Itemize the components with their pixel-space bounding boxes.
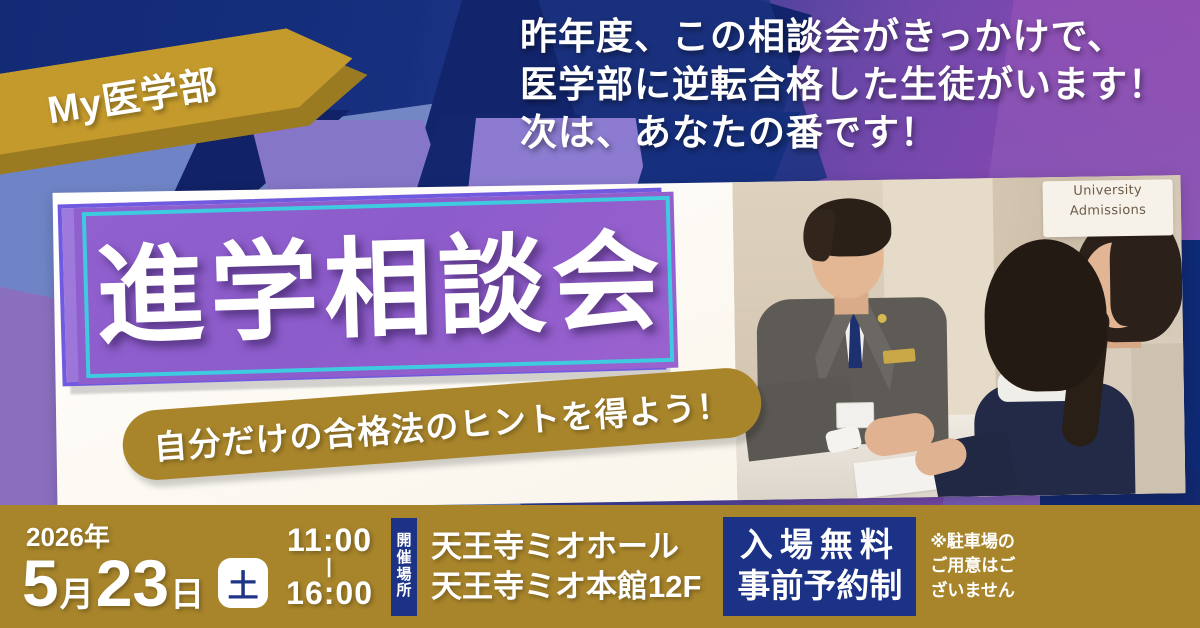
promo-banner: My医学部 昨年度、この相談会がきっかけで、 医学部に逆転合格した生徒がいます！…: [0, 0, 1200, 628]
venue-label-badge: 開 催 場 所: [391, 518, 417, 616]
event-title: 進学相談会: [94, 197, 698, 382]
photo-admissions-sign: University Admissions: [1043, 179, 1174, 237]
headline-line-2: 医学部に逆転合格した生徒がいます！: [520, 62, 1180, 110]
headline-copy: 昨年度、この相談会がきっかけで、 医学部に逆転合格した生徒がいます！ 次は、あな…: [520, 14, 1180, 158]
photo-sign-line-1: University: [1043, 179, 1173, 201]
venue-label-char-3: 場: [396, 567, 411, 584]
admission-badge: 入場無料 事前予約制: [723, 517, 916, 616]
parking-note: ※駐車場の ご用意はご ざいません: [930, 530, 1015, 604]
event-date: 2026年 5 月 23 日 土: [22, 517, 268, 616]
event-time: 11:00 | 16:00: [286, 523, 373, 610]
admission-line-1: 入場無料: [737, 525, 902, 565]
photo-parent-body-side: [1131, 343, 1185, 494]
venue-text: 天王寺ミオホール 天王寺ミオ本館12F: [431, 527, 701, 606]
venue-line-2: 天王寺ミオ本館12F: [431, 567, 701, 607]
headline-line-1: 昨年度、この相談会がきっかけで、: [520, 14, 1180, 62]
photo-sign-line-2: Admissions: [1043, 199, 1173, 221]
counseling-photo: University Admissions: [732, 175, 1185, 500]
event-month-unit: 月: [60, 578, 94, 612]
admission-line-2: 事前予約制: [737, 566, 902, 606]
event-time-start: 11:00: [286, 523, 373, 558]
venue-block: 開 催 場 所 天王寺ミオホール 天王寺ミオ本館12F: [391, 518, 701, 616]
footer-info-bar: 2026年 5 月 23 日 土 11:00 | 16:00 開 催 場 所 天…: [0, 505, 1200, 628]
event-time-end: 16:00: [286, 576, 373, 611]
parking-note-line-2: ご用意はご: [930, 554, 1015, 579]
parking-note-line-3: ざいません: [930, 579, 1015, 604]
photo-staff-name-badge: [883, 348, 916, 364]
event-time-separator: |: [286, 558, 373, 576]
headline-line-3: 次は、あなたの番です！: [520, 110, 1180, 158]
photo-student-hair: [983, 238, 1107, 392]
photo-staff-lapel-pin: [878, 314, 887, 323]
venue-label-char-4: 所: [396, 583, 411, 600]
parking-note-line-1: ※駐車場の: [930, 530, 1015, 555]
venue-line-1: 天王寺ミオホール: [431, 527, 701, 567]
event-day-number: 23: [96, 550, 169, 616]
brand-ribbon-label: My医学部: [43, 53, 221, 134]
event-day-of-week-badge: 土: [218, 558, 268, 608]
event-date-line: 5 月 23 日 土: [22, 550, 268, 616]
event-day-unit: 日: [170, 578, 204, 612]
event-month-number: 5: [22, 550, 59, 616]
venue-label-char-1: 開: [396, 533, 411, 550]
venue-label-char-2: 催: [396, 550, 411, 567]
